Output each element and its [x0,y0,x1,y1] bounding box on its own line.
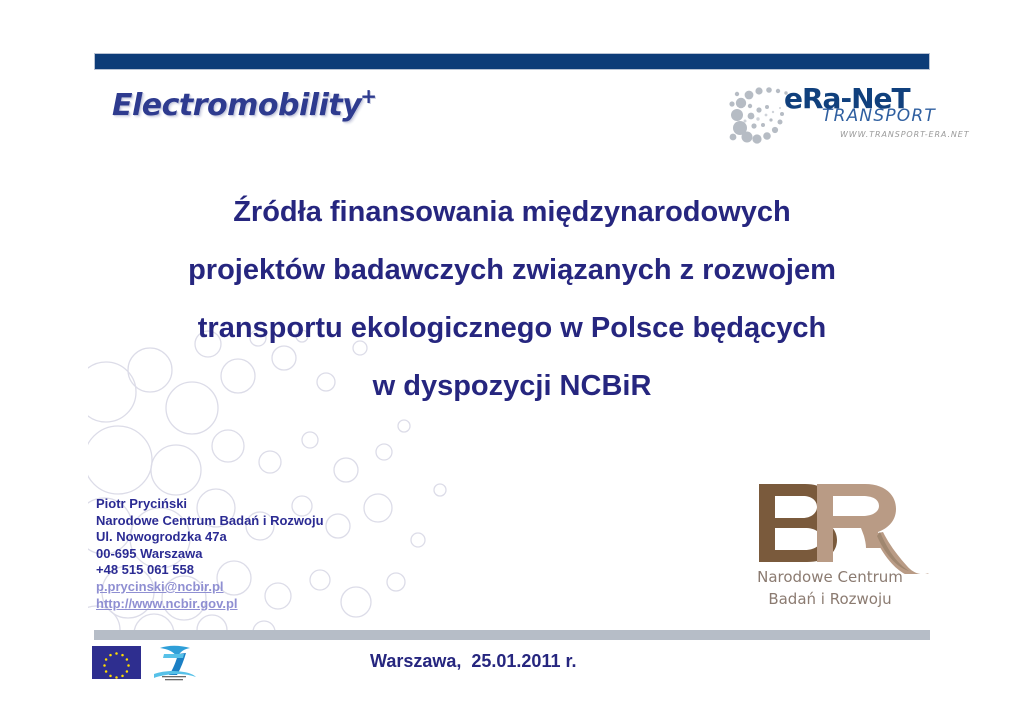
title-line-1: Źródła finansowania międzynarodowych [112,183,912,241]
contact-website-link[interactable]: http://www.ncbir.gov.pl [96,596,324,613]
electromobility-wordmark: Electromobility [112,88,361,123]
ncbr-name-line-2: Badań i Rozwoju [735,588,925,610]
ncbr-br-monogram-icon [753,478,933,574]
ncbr-logo: Narodowe Centrum Badań i Rozwoju [735,478,935,618]
electromobility-plus-icon: + [360,84,377,108]
contact-phone: +48 515 061 558 [96,562,324,579]
era-net-url-text: WWW.TRANSPORT-ERA.NET [840,130,970,139]
title-line-4: w dyspozycji NCBiR [112,357,912,415]
contact-author-name: Piotr Pryciński [96,496,324,513]
presentation-slide: Electromobility+ [0,0,1024,724]
era-net-transport-subtitle: TRANSPORT [822,106,936,126]
contact-email-link[interactable]: p.prycinski@ncbir.pl [96,579,324,596]
fp7-framework-programme-icon [150,644,198,682]
european-union-flag-icon [92,646,141,679]
contact-details-block: Piotr Pryciński Narodowe Centrum Badań i… [96,496,324,612]
top-banner-bar [94,53,930,70]
footer-location-date: Warszawa, 25.01.2011 r. [370,651,576,672]
ncbr-name-line-1: Narodowe Centrum [735,566,925,588]
contact-city: 00-695 Warszawa [96,546,324,563]
electromobility-logo: Electromobility+ [112,88,378,123]
bottom-divider-bar [94,630,930,640]
era-net-transport-logo: eRa-NeT TRANSPORT WWW.TRANSPORT-ERA.NET [728,80,933,152]
contact-organization: Narodowe Centrum Badań i Rozwoju [96,513,324,530]
slide-title: Źródła finansowania międzynarodowych pro… [112,183,912,415]
title-line-3: transportu ekologicznego w Polsce będący… [112,299,912,357]
title-line-2: projektów badawczych związanych z rozwoj… [112,241,912,299]
contact-street: Ul. Nowogrodzka 47a [96,529,324,546]
